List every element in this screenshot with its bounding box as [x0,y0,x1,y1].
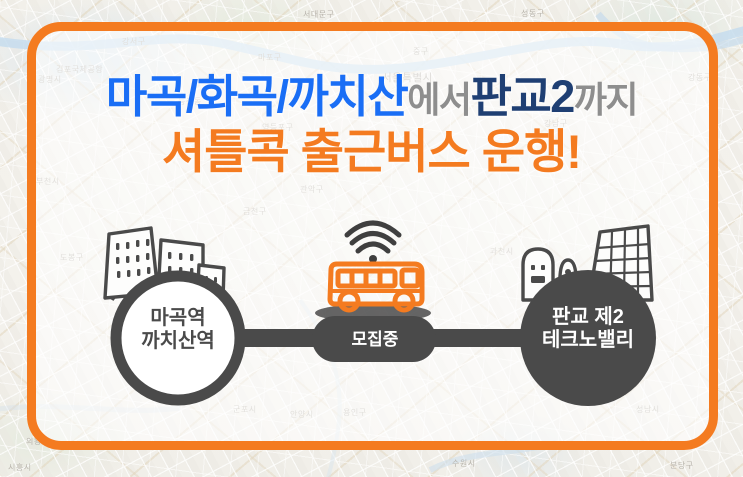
map-label: 서대문구 [303,9,334,20]
right-station-label: 판교 제2 테크노밸리 [500,306,676,352]
left-station-line-2: 까치산역 [108,330,248,353]
map-label: 시흥시 [8,462,32,473]
left-station-line-1: 마곡역 [108,307,248,330]
poster-root: 김포국제공항강서구등촌동마포구영등포구서울특별시중구서대문구성동구강동구강남구관… [0,0,743,477]
headline-origin-stations: 마곡/화곡/까치산 [106,74,407,119]
right-station-line-1: 판교 제2 [500,306,676,329]
map-label: 분당구 [670,460,694,471]
headline-line-2: 셔틀콕 출근버스 운행! [0,128,743,175]
map-label: 수원시 [452,458,476,469]
headline-from-particle: 에서 [407,82,470,118]
headline-destination: 판교2 [470,74,573,119]
headline-to-particle: 까지 [574,82,637,118]
recruiting-pill-label: 모집중 [320,330,430,350]
headline-service-text: 셔틀콕 출근버스 운행! [162,128,581,175]
right-station-line-2: 테크노밸리 [500,329,676,352]
headline: 마곡/화곡/까치산에서 판교2까지 셔틀콕 출근버스 운행! [0,74,743,175]
map-label: 성동구 [521,8,545,19]
headline-line-1: 마곡/화곡/까치산에서 판교2까지 [0,74,743,119]
left-station-label: 마곡역 까치산역 [108,307,248,353]
